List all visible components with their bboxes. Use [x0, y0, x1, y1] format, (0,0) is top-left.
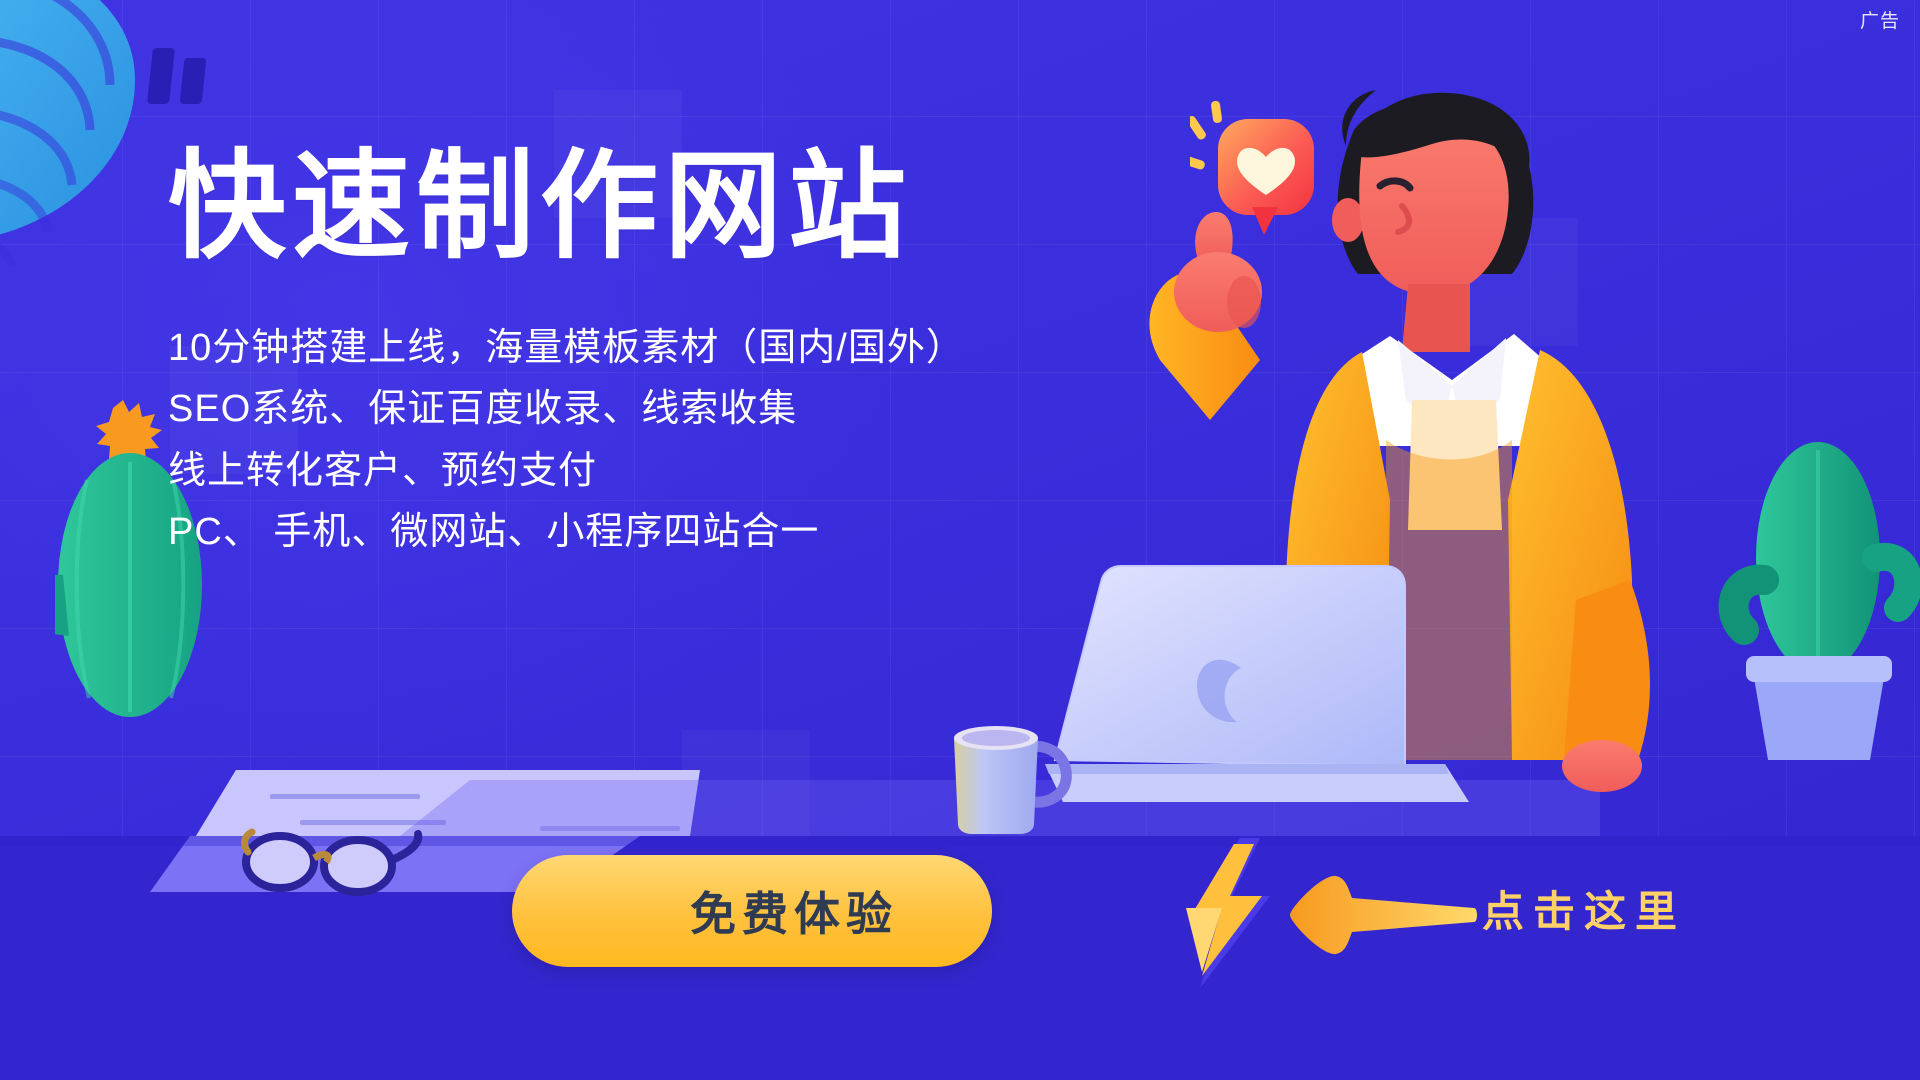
click-here-callout[interactable]: 点击这里 [1482, 878, 1686, 939]
laptop-illustration [1045, 560, 1475, 835]
ad-copy: 快速制作网站 10分钟搭建上线，海量模板素材（国内/国外） SEO系统、保证百度… [168, 140, 1028, 564]
heart-like-icon [1190, 95, 1330, 250]
ad-label: 广告 [1860, 6, 1900, 33]
feature-list: 10分钟搭建上线，海量模板素材（国内/国外） SEO系统、保证百度收录、线索收集… [168, 318, 1028, 564]
list-item: 线上转化客户、预约支付 [168, 441, 1028, 503]
coffee-mug-icon [940, 712, 1075, 842]
ad-banner: 广告 [0, 0, 1920, 1080]
free-trial-button[interactable]: 免费体验 [512, 855, 992, 967]
list-item: 10分钟搭建上线，海量模板素材（国内/国外） [168, 318, 1028, 380]
arrow-left-icon [1288, 872, 1478, 963]
list-item: PC、 手机、微网站、小程序四站合一 [168, 502, 1028, 564]
page-title: 快速制作网站 [168, 140, 1028, 276]
list-item: SEO系统、保证百度收录、线索收集 [168, 379, 1028, 441]
eyeglasses-icon [238, 818, 428, 903]
lightning-bolt-icon [1178, 838, 1288, 993]
